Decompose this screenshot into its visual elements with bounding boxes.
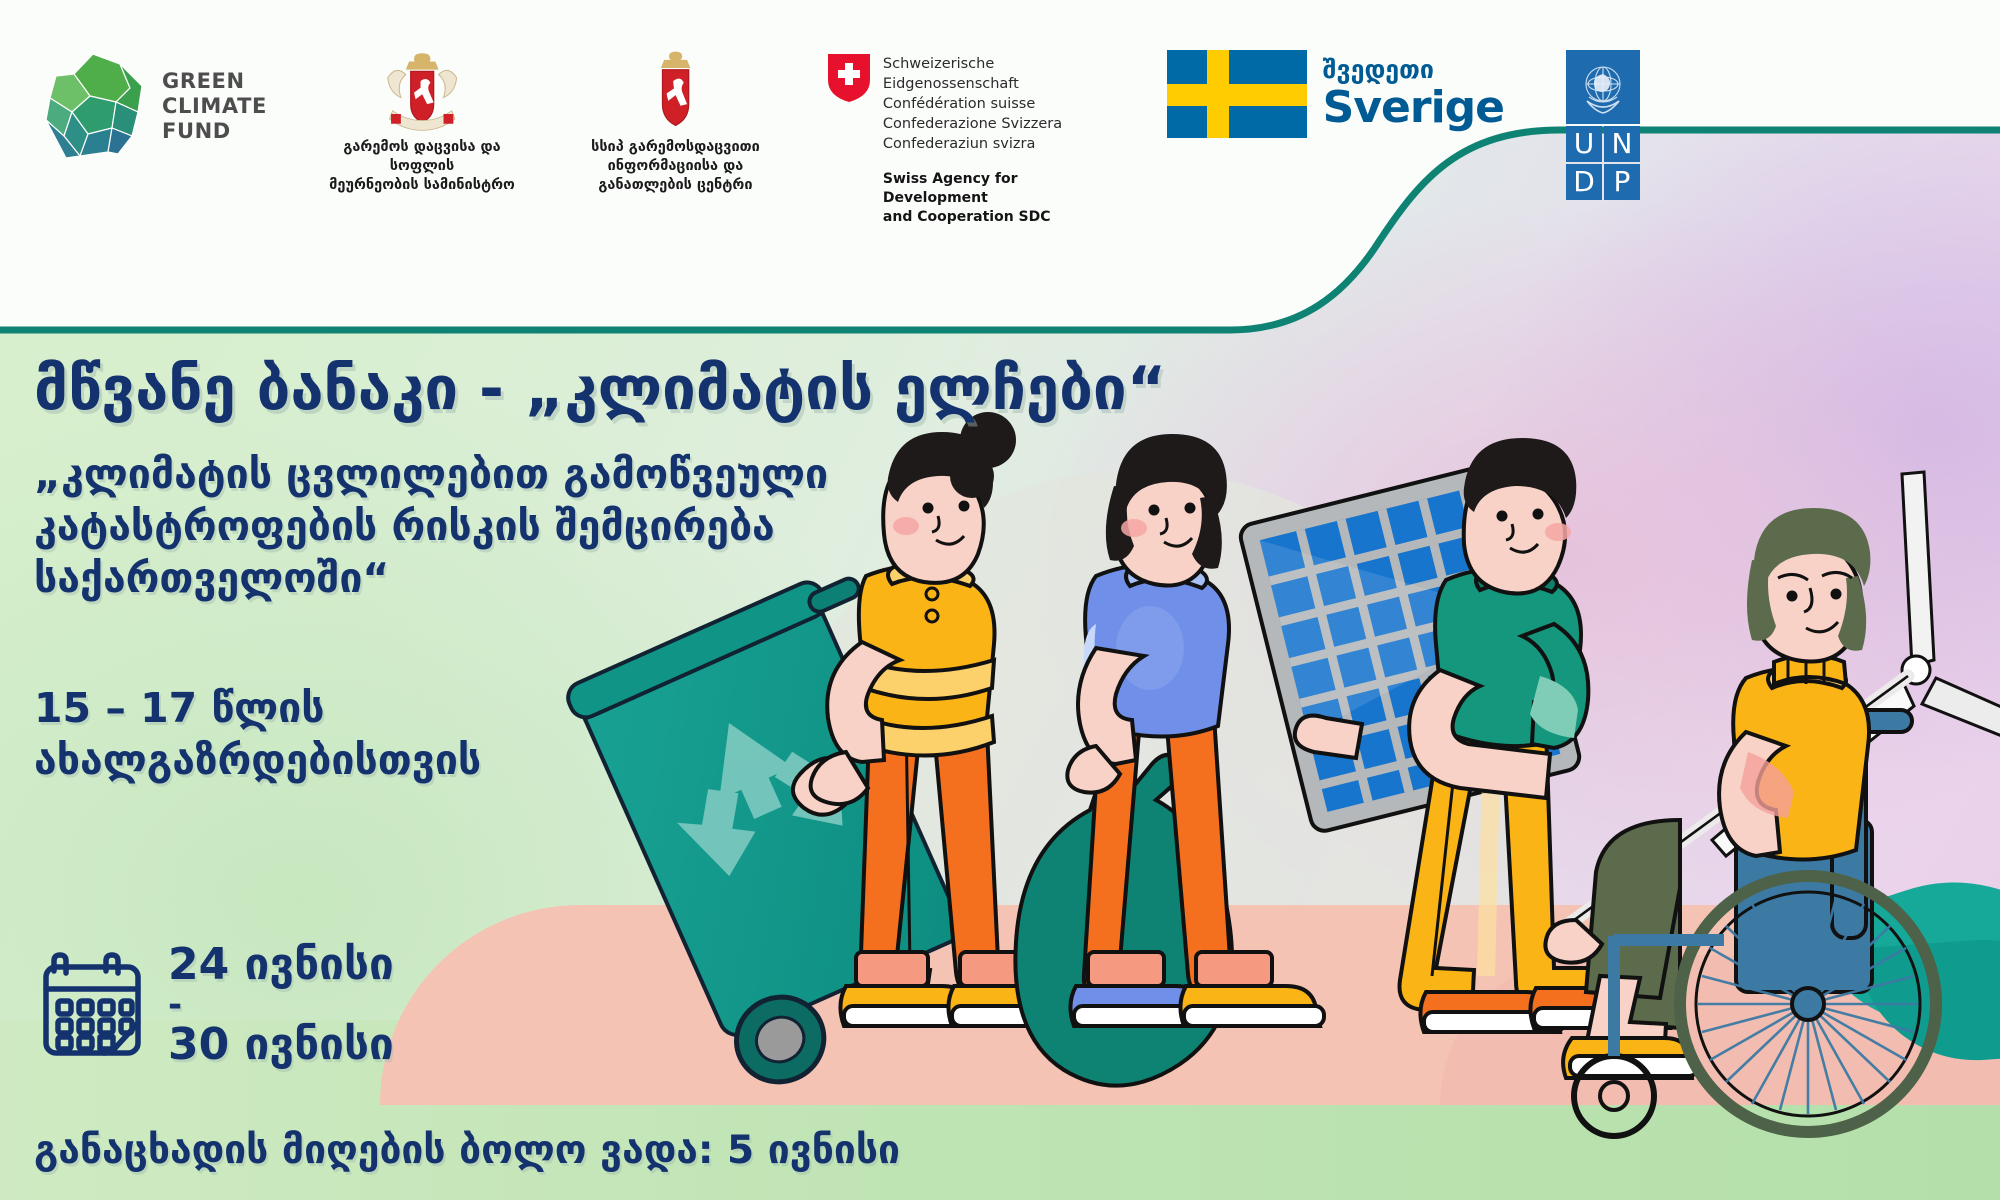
subtitle-line-2: კატასტროფების რისკის შემცირება bbox=[34, 500, 1024, 552]
georgia-coat-of-arms-icon bbox=[373, 50, 471, 132]
centre-caption: სსიპ გარემოსდაცვითი ინფორმაციისა და განა… bbox=[591, 138, 760, 195]
sweden-label-ka: შვედეთი bbox=[1323, 56, 1504, 84]
ministry-caption-line-1: გარემოს დაცვისა და სოფლის bbox=[313, 138, 531, 176]
swiss-line-rm: Confederaziun svizra bbox=[883, 134, 1107, 154]
gcf-globe-icon bbox=[38, 50, 148, 162]
gcf-line-2: CLIMATE bbox=[162, 94, 267, 119]
logo-sweden: შვედეთი Sverige bbox=[1167, 50, 1504, 138]
swiss-names: Schweizerische Eidgenossenschaft Confédé… bbox=[883, 54, 1107, 154]
centre-caption-line-1: სსიპ გარემოსდაცვითი bbox=[591, 138, 760, 157]
page-title: მწვანე ბანაკი - „კლიმატის ელჩები“ bbox=[34, 356, 1154, 422]
centre-caption-line-2: ინფორმაციისა და bbox=[591, 157, 760, 176]
person-in-wheelchair bbox=[1545, 508, 1936, 1136]
swiss-sdc-line-2: and Cooperation SDC bbox=[883, 208, 1107, 227]
gcf-wordmark: GREEN CLIMATE FUND bbox=[162, 69, 267, 144]
swedish-flag-icon bbox=[1167, 50, 1307, 138]
logo-green-climate-fund: GREEN CLIMATE FUND bbox=[38, 50, 267, 162]
project-subtitle: „კლიმატის ცვლილებით გამოწვეული კატასტროფ… bbox=[34, 448, 1024, 604]
georgia-coat-of-arms-small-icon bbox=[651, 50, 700, 132]
ministry-caption: გარემოს დაცვისა და სოფლის მეურნეობის სამ… bbox=[313, 138, 531, 195]
logo-environmental-information-education-centre: სსიპ გარემოსდაცვითი ინფორმაციისა და განა… bbox=[571, 50, 780, 195]
undp-letter-u: U bbox=[1566, 126, 1602, 162]
age-range-text: 15 – 17 წლის ახალგაზრდებისთვის bbox=[34, 682, 1154, 786]
subtitle-line-3: საქართველოში“ bbox=[34, 552, 1024, 604]
date-range: 24 ივნისი - 30 ივნისი bbox=[168, 940, 394, 1070]
swiss-sdc-label: Swiss Agency for Development and Coopera… bbox=[883, 170, 1107, 227]
gcf-line-1: GREEN bbox=[162, 69, 267, 94]
sweden-label-en: Sverige bbox=[1323, 84, 1504, 132]
logo-undp: U N D P bbox=[1566, 50, 1640, 200]
swiss-line-it: Confederazione Svizzera bbox=[883, 114, 1107, 134]
ministry-caption-line-2: მეურნეობის სამინისტრო bbox=[313, 176, 531, 195]
logo-swiss-confederation: Schweizerische Eidgenossenschaft Confédé… bbox=[828, 50, 1107, 227]
date-separator: - bbox=[168, 990, 394, 1020]
poster-copy: მწვანე ბანაკი - „კლიმატის ელჩები“ „კლიმა… bbox=[34, 356, 1154, 786]
swiss-line-fr: Confédération suisse bbox=[883, 94, 1107, 114]
centre-caption-line-3: განათლების ცენტრი bbox=[591, 176, 760, 195]
undp-letter-n: N bbox=[1604, 126, 1640, 162]
partner-logo-row: GREEN CLIMATE FUND გარემოს დაცვისა და bbox=[0, 50, 1640, 220]
age-range-line-1: 15 – 17 წლის bbox=[34, 682, 1154, 734]
gcf-line-3: FUND bbox=[162, 119, 267, 144]
undp-letter-d: D bbox=[1566, 164, 1602, 200]
subtitle-line-1: „კლიმატის ცვლილებით გამოწვეული bbox=[34, 448, 1024, 500]
swiss-sdc-line-1: Swiss Agency for Development bbox=[883, 170, 1107, 208]
date-start: 24 ივნისი bbox=[168, 940, 394, 990]
date-end: 30 ივნისი bbox=[168, 1020, 394, 1070]
calendar-icon bbox=[38, 951, 146, 1059]
undp-letter-p: P bbox=[1604, 164, 1640, 200]
swiss-shield-icon bbox=[828, 54, 870, 102]
logo-ministry-of-environment: გარემოს დაცვისა და სოფლის მეურნეობის სამ… bbox=[313, 50, 531, 195]
event-dates: 24 ივნისი - 30 ივნისი bbox=[38, 940, 394, 1070]
undp-wordmark: U N D P bbox=[1566, 126, 1640, 200]
un-emblem-icon bbox=[1566, 50, 1640, 124]
swiss-line-de: Schweizerische Eidgenossenschaft bbox=[883, 54, 1107, 94]
age-range-line-2: ახალგაზრდებისთვის bbox=[34, 734, 1154, 786]
application-deadline: განაცხადის მიღების ბოლო ვადა: 5 ივნისი bbox=[34, 1128, 900, 1174]
poster-root: GREEN CLIMATE FUND გარემოს დაცვისა და bbox=[0, 0, 2000, 1200]
